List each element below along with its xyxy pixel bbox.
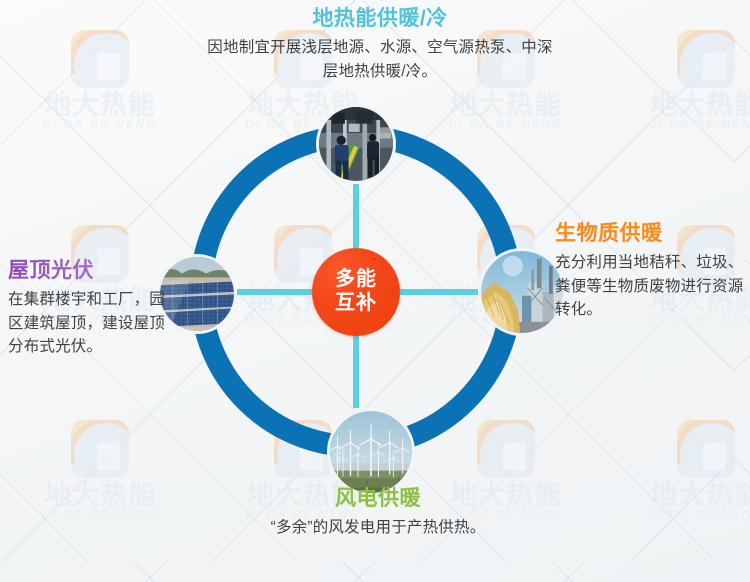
connector-right [400, 289, 478, 295]
connector-left [237, 289, 312, 295]
node-left-description: 在集群楼宇和工厂，园区建筑屋顶，建设屋顶分布式光伏。 [8, 288, 176, 359]
center-hub-line2: 互补 [335, 292, 377, 316]
center-hub-multi-energy[interactable]: 多能 互补 [312, 248, 400, 336]
biomass-straw-plant-photo[interactable] [478, 248, 566, 336]
multi-energy-complementary-diagram: 多能 互补 [0, 0, 750, 582]
node-top-title: 地热能供暖/冷 [200, 6, 560, 31]
node-right-title: 生物质供暖 [555, 221, 750, 246]
node-bottom-description: “多余”的风发电用于产热供热。 [210, 516, 546, 540]
node-left-title: 屋顶光伏 [8, 258, 176, 283]
node-bottom-title: 风电供暖 [210, 486, 546, 511]
node-left-text-block: 屋顶光伏 在集群楼宇和工厂，园区建筑屋顶，建设屋顶分布式光伏。 [8, 258, 176, 359]
node-top-description: 因地制宜开展浅层地源、水源、空气源热泵、中深层地热供暖/冷。 [200, 36, 560, 83]
connector-top [353, 184, 359, 248]
geothermal-heat-pump-equipment-photo[interactable] [316, 104, 396, 184]
node-bottom-text-block: 风电供暖 “多余”的风发电用于产热供热。 [210, 486, 546, 540]
node-right-text-block: 生物质供暖 充分利用当地秸秆、垃圾、粪便等生物质废物进行资源转化。 [555, 221, 750, 322]
wind-turbine-farm-photo[interactable] [327, 408, 415, 496]
node-top-text-block: 地热能供暖/冷 因地制宜开展浅层地源、水源、空气源热泵、中深层地热供暖/冷。 [200, 6, 560, 83]
center-hub-line1: 多能 [335, 268, 377, 292]
connector-bottom [353, 336, 359, 408]
node-right-description: 充分利用当地秸秆、垃圾、粪便等生物质废物进行资源转化。 [555, 251, 750, 322]
